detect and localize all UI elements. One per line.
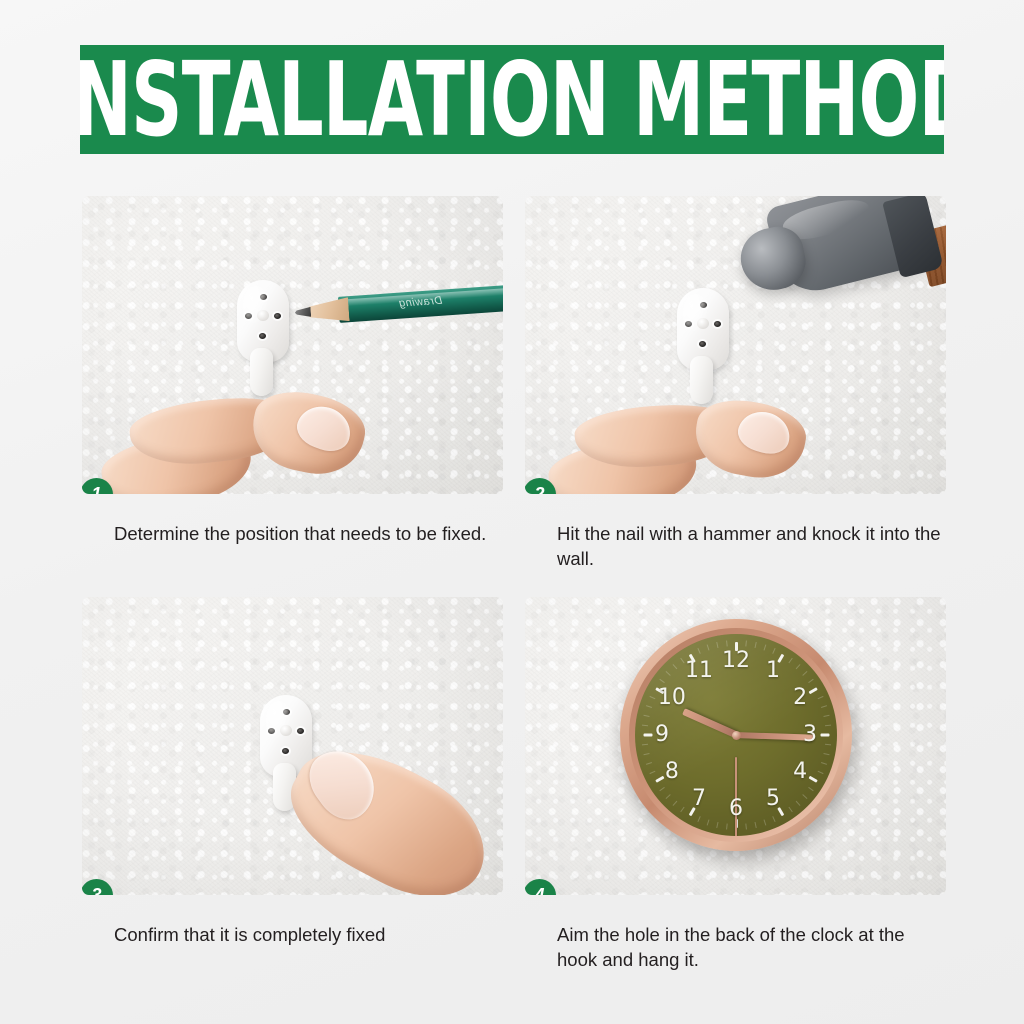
step-1-photo: Drawing 1	[82, 196, 503, 494]
clock-numeral: 8	[665, 761, 679, 783]
step-2-photo: 2	[525, 196, 946, 494]
hand	[102, 392, 402, 494]
wall-hook	[677, 288, 729, 406]
nail-hole-icon	[245, 313, 252, 319]
installation-steps-grid: Drawing 1 Determine the position that ne…	[0, 0, 1024, 1024]
nail-hole-icon	[259, 333, 266, 339]
nail-hole-icon	[700, 302, 707, 308]
clock-numeral: 6	[729, 798, 743, 820]
clock-face: 121234567891011	[635, 634, 837, 836]
hook-center-boss	[280, 725, 292, 736]
hand	[549, 402, 849, 494]
wall-clock: 121234567891011	[620, 619, 852, 851]
clock-numeral: 4	[793, 761, 807, 783]
step-caption-1: Determine the position that needs to be …	[114, 522, 499, 547]
hook-center-boss	[697, 318, 709, 329]
step-caption-2: Hit the nail with a hammer and knock it …	[557, 522, 942, 571]
wall-hook	[237, 280, 289, 398]
step-card-2: 2 Hit the nail with a hammer and knock i…	[525, 196, 946, 571]
step-caption-3: Confirm that it is completely fixed	[114, 923, 499, 948]
nail-hole-icon	[260, 294, 267, 300]
step-4-photo: 121234567891011 4	[525, 597, 946, 895]
pointing-hand	[272, 747, 503, 895]
clock-numeral: 9	[655, 724, 669, 746]
clock-numeral: 11	[685, 660, 713, 682]
step-card-1: Drawing 1 Determine the position that ne…	[82, 196, 503, 547]
nail-hole-icon	[283, 709, 290, 715]
fingernail	[734, 406, 795, 459]
clock-numeral: 12	[722, 650, 750, 672]
nail-hole-icon	[685, 321, 692, 327]
step-3-photo: 3	[82, 597, 503, 895]
clock-numeral: 7	[692, 788, 706, 810]
hook-arm	[690, 356, 713, 404]
fingernail	[298, 738, 387, 830]
hook-arm	[250, 348, 273, 396]
clock-numeral: 3	[803, 724, 817, 746]
clock-numeral: 1	[766, 660, 780, 682]
thumb	[689, 393, 810, 485]
fingernail	[292, 399, 357, 457]
thumb	[245, 383, 371, 483]
clock-numeral: 5	[766, 788, 780, 810]
step-card-3: 3 Confirm that it is completely fixed	[82, 597, 503, 948]
clock-center-pin	[732, 731, 741, 740]
step-caption-4: Aim the hole in the back of the clock at…	[557, 923, 942, 972]
nail-hole-icon	[268, 728, 275, 734]
index-finger	[272, 725, 503, 895]
hook-center-boss	[257, 310, 269, 321]
pencil-brand-text: Drawing	[398, 295, 443, 310]
nail-hole-icon	[274, 313, 281, 319]
nail-hole-icon	[714, 321, 721, 327]
nail-hole-icon	[699, 341, 706, 347]
clock-numeral: 10	[658, 687, 686, 709]
nail-hole-icon	[297, 728, 304, 734]
clock-numeral: 2	[793, 687, 807, 709]
step-card-4: 121234567891011 4 Aim the hole in the ba…	[525, 597, 946, 972]
